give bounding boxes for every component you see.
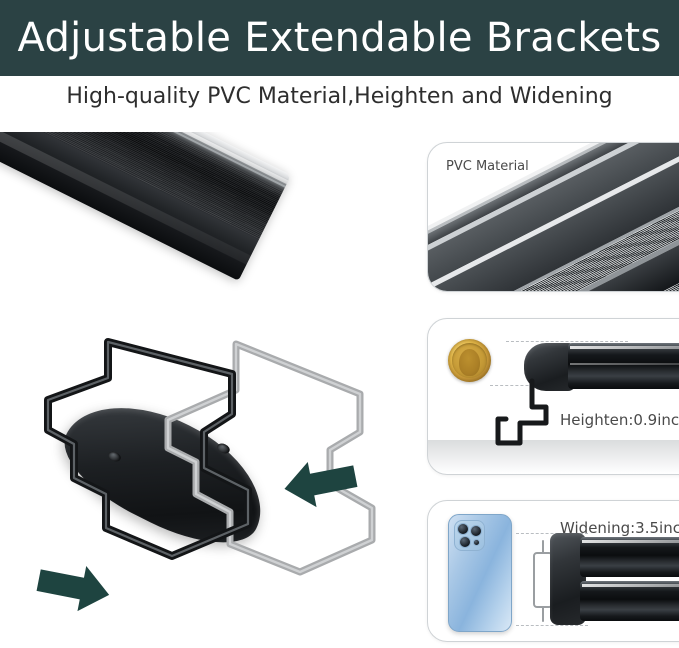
hero-product-image xyxy=(0,132,420,648)
caption-widening: Widening:3.5inch xyxy=(560,519,679,537)
panel-heighten: Heighten:0.9inch xyxy=(427,318,679,475)
bracket-wire-heighten xyxy=(428,319,679,474)
page-title: Adjustable Extendable Brackets xyxy=(0,0,679,76)
arrow-pull-out-icon xyxy=(32,556,116,616)
panel-pvc-material: PVC Material xyxy=(427,142,679,292)
product-infographic: Adjustable Extendable Brackets High-qual… xyxy=(0,0,679,648)
tube-highlight-upper xyxy=(582,540,679,543)
subtitle: High-quality PVC Material,Heighten and W… xyxy=(0,84,679,109)
panel-widening: Widening:3.5inch xyxy=(427,500,679,642)
light-bar-tube-upper xyxy=(580,537,679,577)
light-bar-tube-lower xyxy=(580,581,679,621)
arrow-push-in-icon xyxy=(278,454,362,514)
tube-highlight-lower xyxy=(582,584,679,587)
caption-heighten: Heighten:0.9inch xyxy=(560,411,679,429)
panel-label-pvc-material: PVC Material xyxy=(446,159,529,174)
